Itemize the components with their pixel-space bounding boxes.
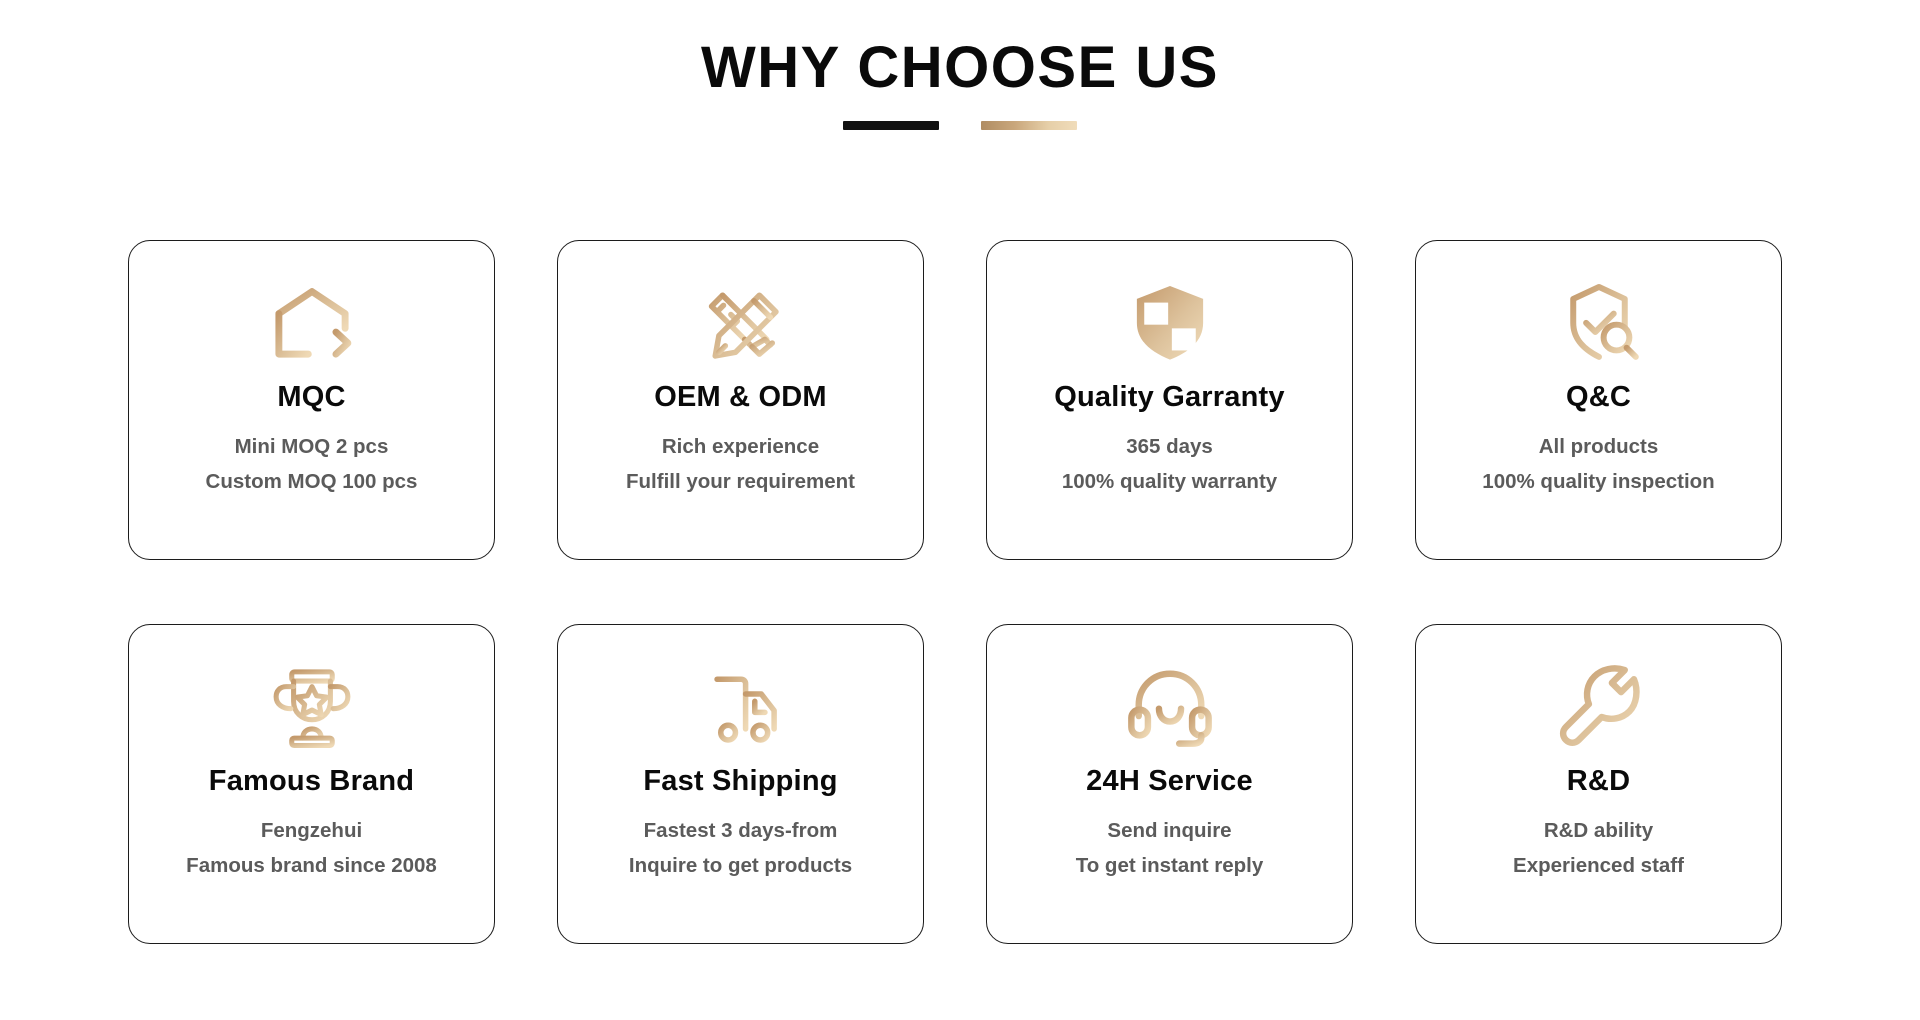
card-description: Fengzehui Famous brand since 2008 <box>186 818 437 878</box>
card-line: 100% quality inspection <box>1482 469 1714 495</box>
feature-card-famous-brand[interactable]: Famous Brand Fengzehui Famous brand sinc… <box>128 624 495 944</box>
card-description: Rich experience Fulfill your requirement <box>626 434 855 494</box>
shield-check-magnifier-icon <box>1553 275 1645 367</box>
card-line: Inquire to get products <box>629 853 852 879</box>
wrench-icon <box>1553 659 1645 751</box>
card-line: Fulfill your requirement <box>626 469 855 495</box>
card-line: Fengzehui <box>261 818 362 844</box>
card-line: Experienced staff <box>1513 853 1684 879</box>
delivery-truck-icon <box>695 659 787 751</box>
page-title: WHY CHOOSE US <box>0 38 1920 99</box>
feature-card-quality-garranty[interactable]: Quality Garranty 365 days 100% quality w… <box>986 240 1353 560</box>
card-line: To get instant reply <box>1076 853 1264 879</box>
trophy-star-icon <box>266 659 358 751</box>
card-title: Fast Shipping <box>643 765 837 798</box>
card-line: Send inquire <box>1107 818 1231 844</box>
card-line: Rich experience <box>662 434 819 460</box>
card-title: OEM & ODM <box>654 381 827 414</box>
card-title: Q&C <box>1566 381 1631 414</box>
card-line: R&D ability <box>1544 818 1653 844</box>
card-title: Quality Garranty <box>1054 381 1284 414</box>
feature-card-oem-odm[interactable]: OEM & ODM Rich experience Fulfill your r… <box>557 240 924 560</box>
card-line: 365 days <box>1126 434 1213 460</box>
card-title: 24H Service <box>1086 765 1253 798</box>
card-description: R&D ability Experienced staff <box>1513 818 1684 878</box>
card-description: All products 100% quality inspection <box>1482 434 1714 494</box>
underline-bar-dark <box>843 121 939 130</box>
section-header: WHY CHOOSE US <box>0 0 1920 130</box>
card-title: MQC <box>277 381 345 414</box>
card-line: Fastest 3 days-from <box>644 818 838 844</box>
card-title: R&D <box>1567 765 1630 798</box>
underline-bar-gold <box>981 121 1077 130</box>
feature-card-fast-shipping[interactable]: Fast Shipping Fastest 3 days-from Inquir… <box>557 624 924 944</box>
title-underline-decoration <box>0 121 1920 130</box>
card-line: Famous brand since 2008 <box>186 853 437 879</box>
card-title: Famous Brand <box>209 765 414 798</box>
pencil-ruler-icon <box>695 275 787 367</box>
card-description: Fastest 3 days-from Inquire to get produ… <box>629 818 852 878</box>
feature-card-mqc[interactable]: MQC Mini MOQ 2 pcs Custom MOQ 100 pcs <box>128 240 495 560</box>
card-line: Mini MOQ 2 pcs <box>235 434 389 460</box>
card-description: Mini MOQ 2 pcs Custom MOQ 100 pcs <box>206 434 418 494</box>
shield-filled-icon <box>1124 275 1216 367</box>
card-description: 365 days 100% quality warranty <box>1062 434 1277 494</box>
feature-cards-grid: MQC Mini MOQ 2 pcs Custom MOQ 100 pcs <box>128 240 1792 944</box>
feature-card-24h-service[interactable]: 24H Service Send inquire To get instant … <box>986 624 1353 944</box>
card-description: Send inquire To get instant reply <box>1076 818 1264 878</box>
card-line: All products <box>1539 434 1659 460</box>
headset-support-icon <box>1124 659 1216 751</box>
feature-card-rd[interactable]: R&D R&D ability Experienced staff <box>1415 624 1782 944</box>
warehouse-outbound-icon <box>266 275 358 367</box>
why-choose-us-section: WHY CHOOSE US <box>0 0 1920 1020</box>
card-line: 100% quality warranty <box>1062 469 1277 495</box>
card-line: Custom MOQ 100 pcs <box>206 469 418 495</box>
feature-card-qc[interactable]: Q&C All products 100% quality inspection <box>1415 240 1782 560</box>
